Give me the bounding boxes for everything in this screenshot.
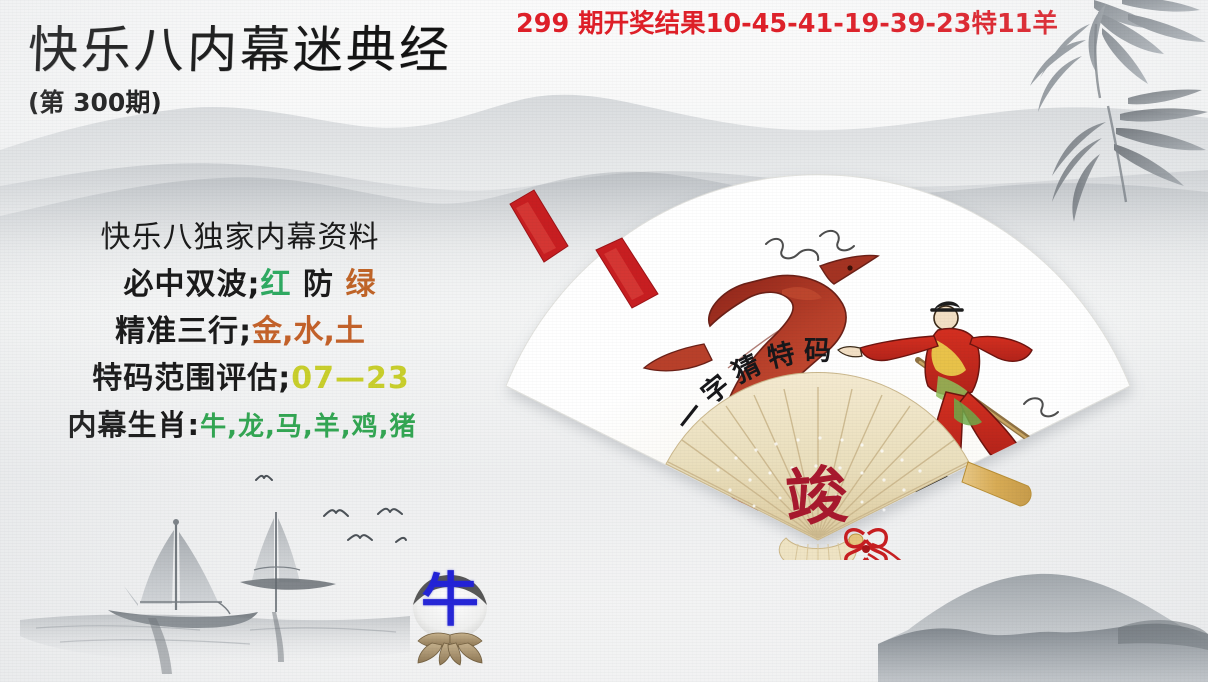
poster-root: 快乐八内幕迷典经 (第 300期) 299 期开奖结果10-45-41-19-3…: [0, 0, 1208, 682]
title-block: 快乐八内幕迷典经 (第 300期): [28, 24, 452, 119]
info-list: 快乐八独家内幕资料 必中双波;红 防 绿 精准三行;金,水,土 特码范围评估;0…: [0, 214, 470, 451]
draw-result-banner: 299 期开奖结果10-45-41-19-39-23特11羊: [516, 3, 1058, 40]
dual-wave-connector: 防: [292, 267, 346, 302]
zodiac-value: 牛,龙,马,羊,鸡,猪: [200, 412, 416, 442]
dual-wave-value-2: 绿: [345, 267, 376, 302]
fan-center-character: 竣: [783, 458, 850, 535]
info-heading: 快乐八独家内幕资料: [0, 214, 470, 261]
zodiac-badge-char: 牛: [398, 571, 502, 629]
dual-wave-value-1: 红: [261, 267, 292, 302]
sailboats-icon: [0, 452, 420, 682]
folding-fan-graphic: 一字猜特码 竣: [468, 140, 1168, 560]
folding-fan: 一字猜特码 竣: [468, 140, 1168, 560]
info-row-range: 特码范围评估;07—23: [0, 355, 470, 402]
range-value: 07—23: [291, 361, 410, 396]
elements-label: 精准三行;: [115, 314, 252, 349]
issue-subtitle: (第 300期): [28, 83, 452, 119]
zodiac-badge: 牛: [398, 565, 502, 670]
info-row-dual-wave: 必中双波;红 防 绿: [0, 261, 470, 308]
dual-wave-label: 必中双波;: [124, 267, 261, 302]
zodiac-label: 内幕生肖:: [68, 408, 201, 442]
elements-value: 金,水,土: [252, 314, 365, 349]
range-label: 特码范围评估;: [92, 361, 291, 396]
info-row-elements: 精准三行;金,水,土: [0, 308, 470, 355]
info-row-zodiac: 内幕生肖:牛,龙,马,羊,鸡,猪: [0, 402, 470, 451]
page-title: 快乐八内幕迷典经: [27, 24, 453, 77]
